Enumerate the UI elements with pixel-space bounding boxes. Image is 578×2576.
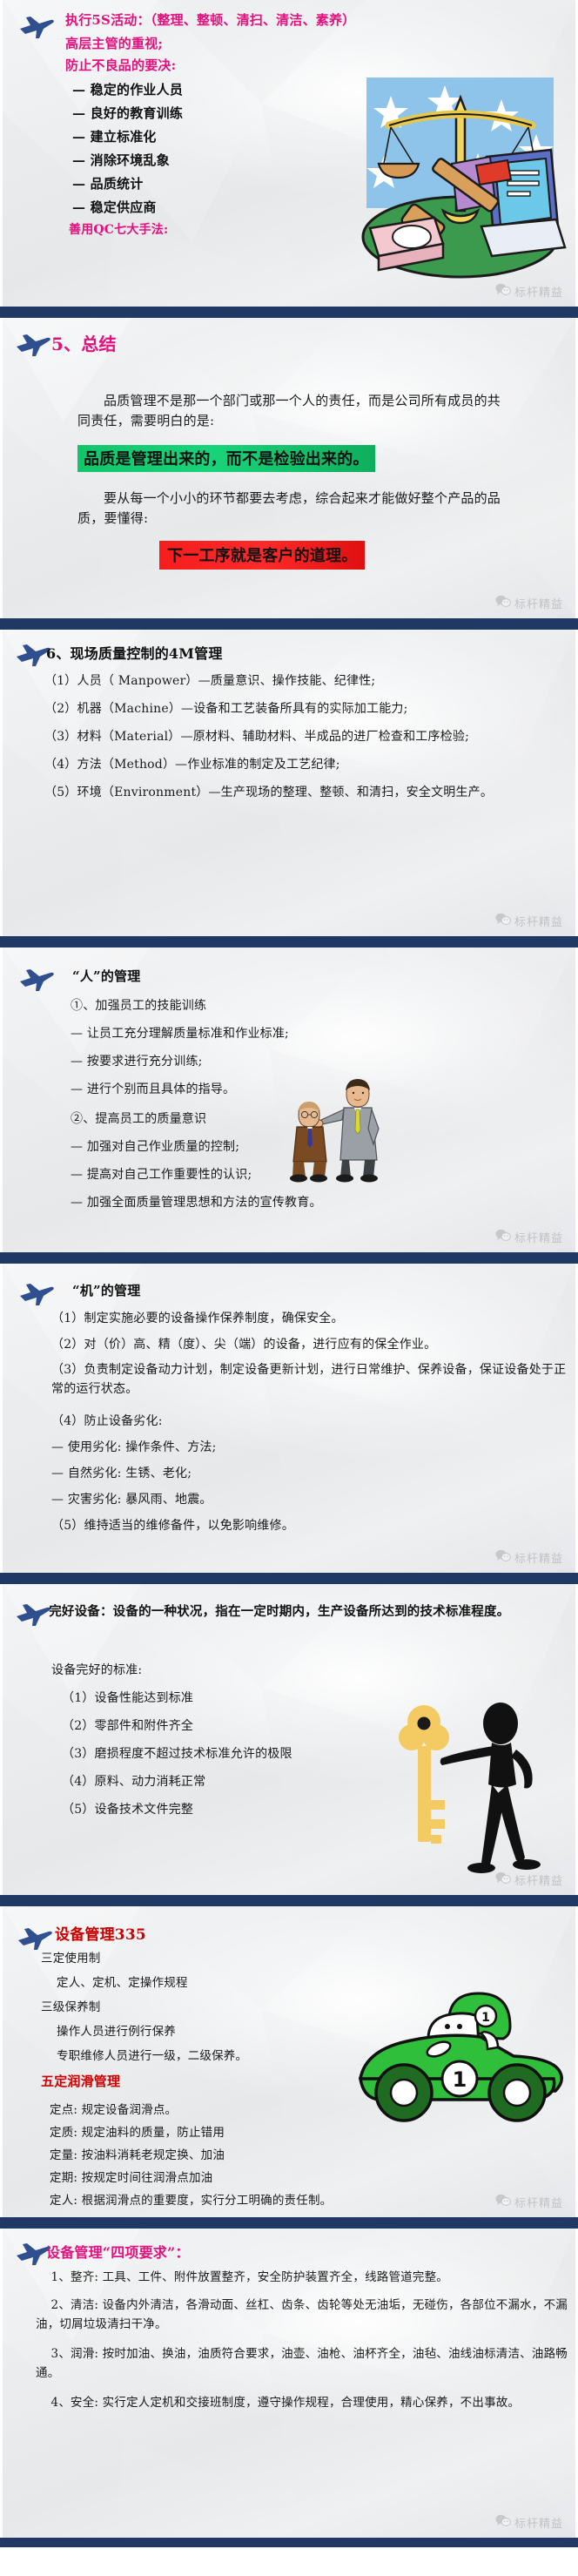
slide-machine-management: “机”的管理 （1）制定实施必要的设备操作保养制度，确保安全。 （2）对（价）高…: [0, 1264, 578, 1573]
scales-justice-clipart: [349, 73, 567, 282]
watermark-label: 标杆精益: [514, 595, 563, 611]
slide-footer-note: 善用QC七大手法:: [69, 220, 168, 238]
slide-heading: 5、总结: [51, 330, 117, 355]
watermark-label: 标杆精益: [514, 1549, 563, 1566]
list-item: （3）磨损程度不超过技术标准允许的极限: [62, 1744, 292, 1762]
block-3-item: 定量: 按油料消耗老规定换、加油: [50, 2145, 225, 2162]
list-item: （3）材料（Material）—原材料、辅助材料、半成品的进厂检查和工序检验;: [44, 727, 575, 745]
slide-equipment-335: 设备管理335 三定使用制 定人、定机、定操作规程 三级保养制 操作人员进行例行…: [0, 1906, 578, 2217]
slide-heading: 设备管理“四项要求”：: [46, 2241, 190, 2262]
slide-four-requirements: 设备管理“四项要求”： 1、整齐: 工具、工件、附件放置整齐，安全防护装置齐全，…: [0, 2229, 578, 2538]
list-item: （5）设备技术文件完整: [62, 1800, 193, 1817]
slide-equipment-condition: 完好设备：设备的一种状况，指在一定时期内，生产设备所达到的技术标准程度。 设备完…: [0, 1584, 578, 1895]
slide-subheading-1: 高层主管的重视;: [65, 34, 163, 52]
group-1-item: — 进行个别而且具体的指导。: [71, 1080, 235, 1097]
slide-separator: [0, 618, 578, 630]
group-2-title: ②、提高员工的质量意识: [71, 1109, 206, 1127]
group-2-item: — 加强对自己作业质量的控制;: [71, 1137, 239, 1155]
green-highlight-box: 品质是管理出来的，而不是检验出来的。: [77, 445, 375, 472]
requirement-item: 1、整齐: 工具、工件、附件放置整齐，安全防护装置齐全，线路管道完整。: [36, 2269, 570, 2288]
slide-separator: [0, 1895, 578, 1906]
list-item: （4）方法（Method）—作业标准的制定及工艺纪律;: [44, 755, 567, 772]
group-2-item: — 提高对自己工作重要性的认识;: [71, 1165, 252, 1183]
block-1-title: 三定使用制: [41, 1948, 101, 1966]
wechat-icon: [495, 1229, 511, 1245]
list-item: （3）负责制定设备动力计划，制定设备更新计划，进行日常维护、保养设备，保证设备处…: [51, 1361, 574, 1399]
watermark-label: 标杆精益: [514, 2194, 563, 2210]
key-and-stick-figure-clipart: [386, 1697, 560, 1885]
slide-heading: 6、现场质量控制的4M管理: [46, 642, 223, 663]
watermark-label: 标杆精益: [514, 283, 563, 300]
bullet-item: — 建立标准化: [72, 127, 157, 145]
slide-separator: [0, 307, 578, 318]
green-race-car-clipart: 1 1: [355, 1981, 564, 2129]
summary-paragraph-2: 要从每一个小小的环节都要去考虑，综合起来才能做好整个产品的品质，要懂得:: [77, 489, 513, 528]
bullet-item: — 稳定的作业人员: [72, 80, 183, 98]
wechat-icon: [495, 2194, 511, 2210]
list-item: （1）设备性能达到标准: [62, 1689, 193, 1706]
list-item: （5）维持适当的维修备件，以免影响维修。: [51, 1516, 294, 1534]
list-item: （4）防止设备劣化:: [51, 1412, 163, 1429]
slide-separator: [0, 1252, 578, 1264]
block-3-item: 定期: 按规定时间往润滑点加油: [50, 2168, 212, 2185]
slide-separator: [0, 1573, 578, 1584]
bullet-item: — 稳定供应商: [72, 198, 157, 216]
slide-heading: “人”的管理: [72, 967, 140, 985]
background-facets: [3, 1584, 575, 1892]
block-1-body: 定人、定机、定操作规程: [57, 1972, 188, 1990]
slide-separator: [0, 2217, 578, 2229]
watermark-label: 标杆精益: [514, 1229, 563, 1245]
block-3-item: 定质: 规定油料的质量，防止错用: [50, 2122, 225, 2140]
slide-4m-management: 6、现场质量控制的4M管理 （1）人员（ Manpower）—质量意识、操作技能…: [0, 630, 578, 936]
slide-5s-activities: 执行5S活动：（整理、整顿、清扫、清洁、素养） 高层主管的重视; 防止不良品的要…: [0, 0, 578, 307]
airplane-icon: [18, 967, 55, 993]
requirement-item: 4、安全: 实行定人定机和交接班制度，遵守操作规程，合理使用，精心保养，不出事故…: [36, 2394, 570, 2413]
slide-summary: 5、总结 品质管理不是那一个部门或那一个人的责任，而是公司所有成员的共同责任，需…: [0, 318, 578, 618]
bullet-item: — 良好的教育训练: [72, 104, 183, 122]
airplane-icon: [18, 14, 55, 40]
svg-text:1: 1: [481, 2011, 490, 2025]
summary-paragraph-1: 品质管理不是那一个部门或那一个人的责任，而是公司所有成员的共同责任，需要明白的是…: [77, 391, 513, 430]
slide-separator: [0, 936, 578, 947]
wechat-icon: [495, 1549, 511, 1566]
wechat-icon: [495, 595, 511, 611]
block-2-body-2: 专职维修人员进行一级，二级保养。: [57, 2046, 247, 2063]
airplane-icon: [15, 332, 51, 358]
bullet-item: — 消除环境乱象: [72, 151, 170, 169]
red-highlight-box: 下一工序就是客户的道理。: [159, 541, 365, 570]
group-2-item: — 加强全面质量管理思想和方法的宣传教育。: [71, 1193, 322, 1210]
wechat-icon: [495, 283, 511, 300]
green-highlight-text: 品质是管理出来的，而不是检验出来的。: [77, 445, 375, 472]
svg-text:1: 1: [453, 2067, 467, 2092]
watermark-label: 标杆精益: [514, 1871, 563, 1888]
slide-separator: [0, 2538, 578, 2547]
block-2-body-1: 操作人员进行例行保养: [57, 2021, 176, 2039]
watermark: 标杆精益: [495, 1229, 563, 1245]
watermark-label: 标杆精益: [514, 913, 563, 929]
red-highlight-text: 下一工序就是客户的道理。: [159, 541, 365, 570]
wechat-icon: [495, 1871, 511, 1888]
slide-deck: 执行5S活动：（整理、整顿、清扫、清洁、素养） 高层主管的重视; 防止不良品的要…: [0, 0, 578, 2547]
two-businessmen-clipart: [264, 1075, 412, 1183]
airplane-icon: [18, 1281, 55, 1307]
list-item: — 灾害劣化: 暴风雨、地震。: [51, 1490, 212, 1507]
slide-subheading-2: 防止不良品的要决:: [65, 56, 176, 74]
block-2-title: 三级保养制: [41, 1997, 101, 2014]
wechat-icon: [495, 913, 511, 929]
group-1-item: — 按要求进行充分训练;: [71, 1052, 203, 1069]
watermark: 标杆精益: [495, 1549, 563, 1566]
slide-heading: 执行5S活动：（整理、整顿、清扫、清洁、素养）: [65, 10, 355, 29]
list-item: （4）原料、动力消耗正常: [62, 1772, 205, 1790]
list-item: （1）制定实施必要的设备操作保养制度，确保安全。: [51, 1309, 344, 1326]
watermark-label: 标杆精益: [514, 2514, 563, 2531]
list-item: — 使用劣化: 操作条件、方法;: [51, 1438, 217, 1455]
slide-heading: 完好设备：设备的一种状况，指在一定时期内，生产设备所达到的技术标准程度。: [29, 1602, 560, 1622]
list-item: （1）人员（ Manpower）—质量意识、操作技能、纪律性;: [44, 671, 567, 689]
block-3-title: 五定润滑管理: [41, 2072, 120, 2090]
watermark: 标杆精益: [495, 2514, 563, 2531]
requirement-item: 2、清洁: 设备内外清洁，各滑动面、丝杠、齿条、齿轮等处无油垢，无碰伤，各部位不…: [36, 2296, 570, 2334]
block-3-item: 定人: 根据润滑点的重要度，实行分工明确的责任制。: [50, 2190, 332, 2208]
wechat-icon: [495, 2514, 511, 2531]
list-item: （5）环境（Environment）—生产现场的整理、整顿、和清扫，安全文明生产…: [44, 783, 578, 800]
subheading: 设备完好的标准:: [51, 1661, 142, 1678]
watermark: 标杆精益: [495, 283, 563, 300]
list-item: — 自然劣化: 生锈、老化;: [51, 1464, 192, 1481]
block-3-item: 定点: 规定设备润滑点。: [50, 2100, 177, 2117]
slide-heading: “机”的管理: [72, 1281, 140, 1299]
group-1-title: ①、加强员工的技能训练: [71, 996, 206, 1014]
watermark: 标杆精益: [495, 1871, 563, 1888]
requirement-item: 3、润滑: 按时加油、换油，油质符合要求，油壶、油枪、油杯齐全，油毡、油线油标清…: [36, 2345, 570, 2383]
bullet-item: — 品质统计: [72, 174, 143, 192]
watermark: 标杆精益: [495, 2194, 563, 2210]
list-item: （2）机器（Machine）—设备和工艺装备所具有的实际加工能力;: [44, 699, 567, 717]
list-item: （2）对（价）高、精（度）、尖（端）的设备，进行应有的保全作业。: [51, 1335, 436, 1352]
watermark: 标杆精益: [495, 595, 563, 611]
slide-people-management: “人”的管理 ①、加强员工的技能训练 — 让员工充分理解质量标准和作业标准; —…: [0, 947, 578, 1252]
group-1-item: — 让员工充分理解质量标准和作业标准;: [71, 1024, 289, 1042]
slide-heading: 设备管理335: [55, 1922, 146, 1944]
list-item: （2）零部件和附件齐全: [62, 1716, 193, 1734]
watermark: 标杆精益: [495, 913, 563, 929]
